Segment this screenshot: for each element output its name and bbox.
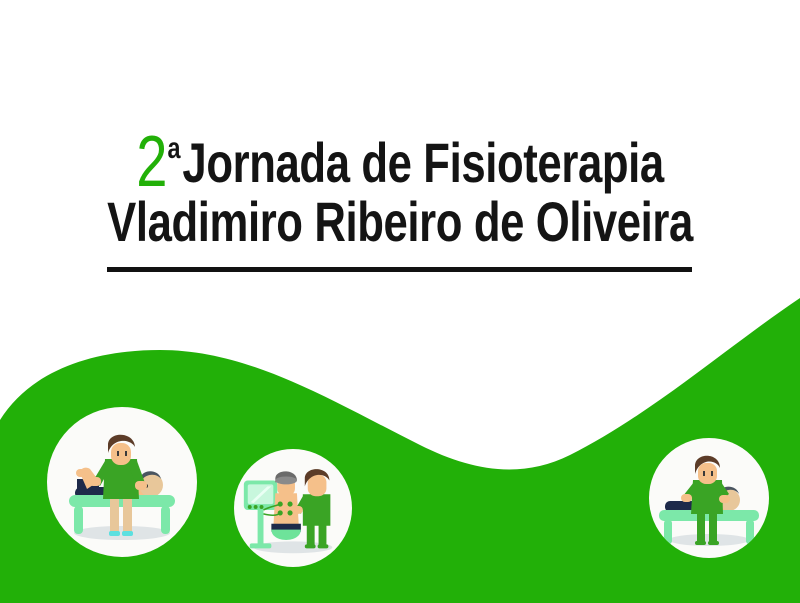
title-underline-rule <box>107 267 692 272</box>
title-line-1-text: Jornada de Fisioterapia <box>182 131 663 194</box>
ordinal-suffix: a <box>167 132 180 165</box>
page-title-line-2: Vladimiro Ribeiro de Oliveira <box>88 194 712 254</box>
page-title-line-1: 2aJornada de Fisioterapia <box>88 126 712 186</box>
illustration-therapist-massage <box>649 438 769 558</box>
illustration-therapist-massage-svg <box>649 438 769 558</box>
poster-title-block: 2aJornada de Fisioterapia Vladimiro Ribe… <box>0 126 800 254</box>
poster-canvas: 2aJornada de Fisioterapia Vladimiro Ribe… <box>0 0 800 603</box>
illustration-electrotherapy-monitor-svg <box>234 449 352 567</box>
illustration-therapist-leg-stretch-svg <box>47 407 197 557</box>
illustration-therapist-leg-stretch <box>47 407 197 557</box>
illustration-electrotherapy-monitor <box>234 449 352 567</box>
